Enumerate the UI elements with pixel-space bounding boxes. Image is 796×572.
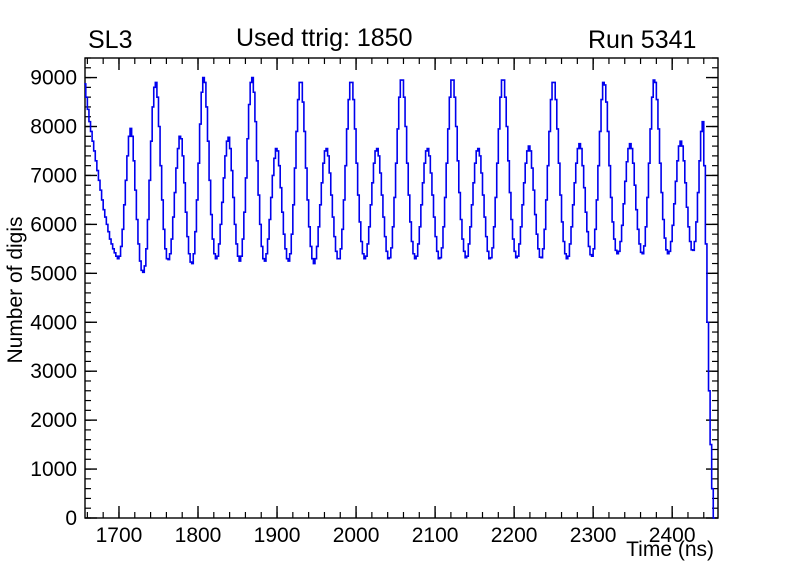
series-line bbox=[84, 78, 715, 518]
x-tick-label: 2200 bbox=[491, 524, 538, 547]
x-axis-title: Time (ns) bbox=[626, 538, 714, 561]
x-axis-ticks bbox=[87, 58, 703, 518]
y-tick-label: 7000 bbox=[30, 164, 77, 187]
y-tick-label: 9000 bbox=[30, 67, 77, 90]
root-canvas: SL3 Used ttrig: 1850 Run 5341 1700180019… bbox=[0, 0, 796, 572]
y-tick-label: 4000 bbox=[30, 311, 77, 334]
y-tick-label: 2000 bbox=[30, 409, 77, 432]
y-tick-label: 3000 bbox=[30, 360, 77, 383]
y-axis-ticks bbox=[85, 58, 718, 518]
plot-area: 17001800190020002100220023002400 0100020… bbox=[0, 0, 796, 572]
x-tick-label: 2100 bbox=[412, 524, 459, 547]
x-tick-labels: 17001800190020002100220023002400 bbox=[96, 524, 696, 547]
x-tick-label: 1800 bbox=[175, 524, 222, 547]
y-axis-title: Number of digis bbox=[4, 216, 27, 363]
y-tick-label: 8000 bbox=[30, 116, 77, 139]
y-tick-labels: 0100020003000400050006000700080009000 bbox=[30, 67, 77, 530]
y-tick-label: 1000 bbox=[30, 458, 77, 481]
y-tick-label: 5000 bbox=[30, 262, 77, 285]
x-tick-label: 1900 bbox=[254, 524, 301, 547]
y-tick-label: 0 bbox=[65, 507, 77, 530]
x-tick-label: 1700 bbox=[96, 524, 143, 547]
axis-frame bbox=[85, 58, 718, 518]
data-series bbox=[84, 78, 715, 518]
y-tick-label: 6000 bbox=[30, 213, 77, 236]
x-tick-label: 2000 bbox=[333, 524, 380, 547]
x-tick-label: 2300 bbox=[570, 524, 617, 547]
